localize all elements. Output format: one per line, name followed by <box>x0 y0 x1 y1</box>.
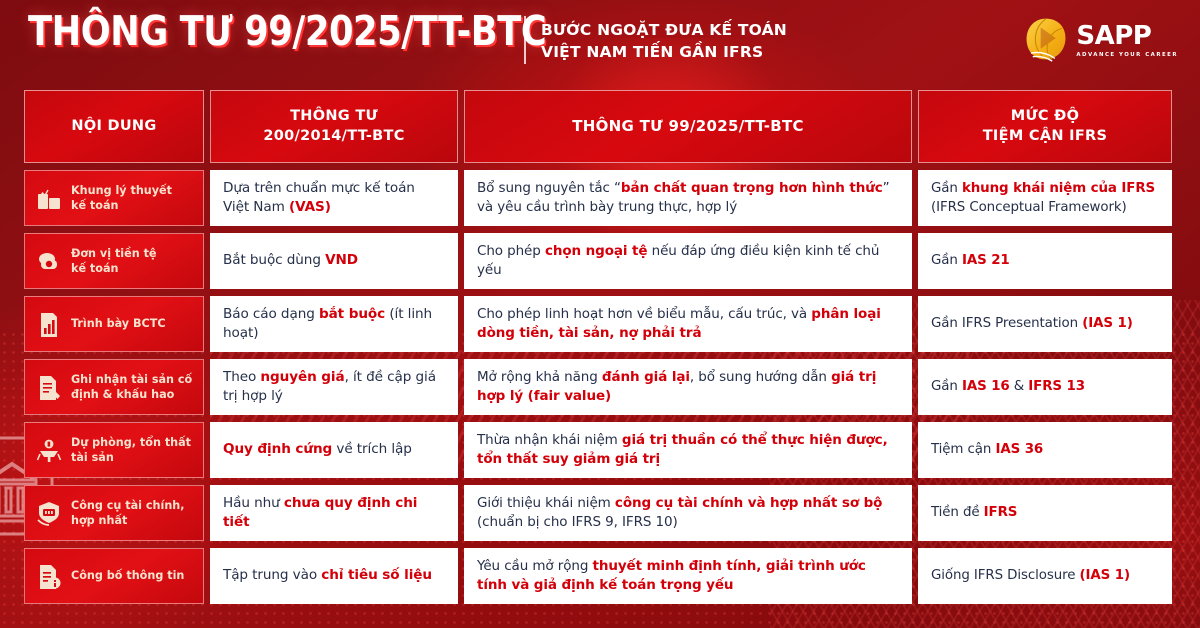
ifrs-level-cell: Gần IAS 21 <box>918 233 1172 289</box>
table-header-row: NỘI DUNGTHÔNG TƯ 200/2014/TT-BTCTHÔNG TƯ… <box>24 90 1176 163</box>
plain-text: Yêu cầu mở rộng <box>477 558 592 574</box>
cell-text: Bổ sung nguyên tắc “bản chất quan trọng … <box>477 179 899 217</box>
highlight-text: IAS 36 <box>995 442 1043 457</box>
table-row: Công cụ tài chính,hợp nhấtHầu như chưa q… <box>24 485 1176 541</box>
plain-text: Hầu như <box>223 495 284 511</box>
sapp-logo-tagline: ADVANCE YOUR CAREER <box>1076 52 1178 58</box>
plain-text: (chuẩn bị cho IFRS 9, IFRS 10) <box>477 514 678 530</box>
highlight-text: nguyên giá <box>260 369 344 385</box>
tt200-cell: Tập trung vào chỉ tiêu số liệu <box>210 548 458 604</box>
infographic-page: THÔNG TƯ 99/2025/TT-BTC BƯỚC NGOẶT ĐƯA K… <box>0 0 1200 628</box>
ifrs-level-cell: Tiệm cận IAS 36 <box>918 422 1172 478</box>
plain-text: Cho phép <box>477 243 545 259</box>
plain-text: Tiệm cận <box>931 442 995 457</box>
cell-text: Gần IAS 21 <box>931 251 1010 270</box>
highlight-text: (IAS 1) <box>1080 568 1131 583</box>
plain-text: Gần <box>931 379 962 394</box>
ifrs-level-cell: Gần khung khái niệm của IFRS (IFRS Conce… <box>918 170 1172 226</box>
table-row: Công bố thông tinTập trung vào chỉ tiêu … <box>24 548 1176 604</box>
cell-text: Tiền đề IFRS <box>931 503 1017 522</box>
page-title: THÔNG TƯ 99/2025/TT-BTC <box>28 11 546 52</box>
highlight-text: bắt buộc <box>319 306 385 322</box>
table-header-cell-3: THÔNG TƯ 99/2025/TT-BTC <box>464 90 912 163</box>
highlight-text: VND <box>325 252 358 268</box>
cell-text: Hầu như chưa quy định chi tiết <box>223 494 445 533</box>
topic-label-cell[interactable]: Dự phòng, tổn thấttài sản <box>24 422 204 478</box>
highlight-text: Quy định cứng <box>223 441 332 457</box>
cell-text: Gần IFRS Presentation (IAS 1) <box>931 314 1133 333</box>
plain-text: Gần <box>931 253 962 268</box>
topic-label-text: Công cụ tài chính,hợp nhất <box>71 498 185 528</box>
tt99-cell: Cho phép linh hoạt hơn về biểu mẫu, cấu … <box>464 296 912 352</box>
topic-label-text: Dự phòng, tổn thấttài sản <box>71 435 191 465</box>
highlight-text: IFRS 13 <box>1028 379 1085 394</box>
table-row: Ghi nhận tài sản cốđịnh & khấu haoTheo n… <box>24 359 1176 415</box>
cell-text: Báo cáo dạng bắt buộc (ít linh hoạt) <box>223 305 445 344</box>
cell-text: Gần khung khái niệm của IFRS (IFRS Conce… <box>931 179 1159 217</box>
highlight-text: bản chất quan trọng hơn hình thức <box>621 180 883 196</box>
plain-text: Bắt buộc dùng <box>223 252 325 268</box>
cell-text: Mở rộng khả năng đánh giá lại, bổ sung h… <box>477 368 899 406</box>
table-row: Khung lý thuyếtkế toánDựa trên chuẩn mực… <box>24 170 1176 226</box>
tt99-cell: Bổ sung nguyên tắc “bản chất quan trọng … <box>464 170 912 226</box>
sapp-logo-wordmark: SAPP <box>1076 24 1178 49</box>
topic-label-text: Đơn vị tiền tệkế toán <box>71 246 157 276</box>
plain-text: Gần IFRS Presentation <box>931 316 1082 331</box>
highlight-text: IAS 21 <box>962 253 1010 268</box>
table-row: Đơn vị tiền tệkế toánBắt buộc dùng VNDCh… <box>24 233 1176 289</box>
chart-building-icon <box>36 185 62 211</box>
plain-text: Mở rộng khả năng <box>477 369 602 385</box>
table-header-cell-4: MỨC ĐỘ TIỆM CẬN IFRS <box>918 90 1172 163</box>
highlight-text: công cụ tài chính và hợp nhất sơ bộ <box>615 495 882 511</box>
topic-label-cell[interactable]: Trình bày BCTC <box>24 296 204 352</box>
plain-text: (IFRS Conceptual Framework) <box>931 200 1127 215</box>
topic-label-cell[interactable]: Khung lý thuyếtkế toán <box>24 170 204 226</box>
sapp-logo[interactable]: SAPP ADVANCE YOUR CAREER <box>1023 16 1178 66</box>
table-header-label: NỘI DUNG <box>71 117 156 136</box>
cell-text: Quy định cứng về trích lập <box>223 440 412 459</box>
cell-text: Bắt buộc dùng VND <box>223 251 358 270</box>
topic-label-cell[interactable]: Ghi nhận tài sản cốđịnh & khấu hao <box>24 359 204 415</box>
ifrs-level-cell: Gần IFRS Presentation (IAS 1) <box>918 296 1172 352</box>
highlight-text: đánh giá lại <box>602 369 690 385</box>
highlight-text: IFRS <box>984 505 1018 520</box>
plain-text: Tập trung vào <box>223 567 321 583</box>
sapp-circle-logo-icon <box>1023 16 1069 67</box>
plain-text: & <box>1010 379 1029 394</box>
page-header: THÔNG TƯ 99/2025/TT-BTC BƯỚC NGOẶT ĐƯA K… <box>0 0 1200 88</box>
plain-text: Báo cáo dạng <box>223 306 319 322</box>
cell-text: Yêu cầu mở rộng thuyết minh định tính, g… <box>477 557 899 595</box>
plain-text: Tiền đề <box>931 505 984 520</box>
table-header-cell-1: NỘI DUNG <box>24 90 204 163</box>
tt200-cell: Quy định cứng về trích lập <box>210 422 458 478</box>
plain-text: Giới thiệu khái niệm <box>477 495 615 511</box>
plain-text: Thừa nhận khái niệm <box>477 432 622 448</box>
tt99-cell: Cho phép chọn ngoại tệ nếu đáp ứng điều … <box>464 233 912 289</box>
highlight-text: khung khái niệm của IFRS <box>962 181 1155 196</box>
tt200-cell: Dựa trên chuẩn mực kế toán Việt Nam (VAS… <box>210 170 458 226</box>
page-subtitle: BƯỚC NGOẶT ĐƯA KẾ TOÁN VIỆT NAM TIẾN GẦN… <box>541 19 787 63</box>
finance-hand-icon <box>36 500 62 526</box>
highlight-text: chỉ tiêu số liệu <box>321 567 432 583</box>
highlight-text: IAS 16 <box>962 379 1010 394</box>
highlight-text: (VAS) <box>289 199 331 215</box>
cell-text: Giới thiệu khái niệm công cụ tài chính v… <box>477 494 899 532</box>
cell-text: Cho phép chọn ngoại tệ nếu đáp ứng điều … <box>477 242 899 280</box>
plain-text: , bổ sung hướng dẫn <box>690 369 831 385</box>
plain-text: Giống IFRS Disclosure <box>931 568 1080 583</box>
plain-text: về trích lập <box>332 441 412 457</box>
cell-text: Dựa trên chuẩn mực kế toán Việt Nam (VAS… <box>223 179 445 218</box>
tt200-cell: Theo nguyên giá, ít đề cập giá trị hợp l… <box>210 359 458 415</box>
tt99-cell: Thừa nhận khái niệm giá trị thuần có thể… <box>464 422 912 478</box>
tt200-cell: Bắt buộc dùng VND <box>210 233 458 289</box>
plain-text: Theo <box>223 369 260 385</box>
tt99-cell: Mở rộng khả năng đánh giá lại, bổ sung h… <box>464 359 912 415</box>
shield-alert-icon <box>36 437 62 463</box>
topic-label-text: Công bố thông tin <box>71 568 184 583</box>
table-header-label: THÔNG TƯ 99/2025/TT-BTC <box>572 117 804 137</box>
cell-text: Cho phép linh hoạt hơn về biểu mẫu, cấu … <box>477 305 899 343</box>
document-pen-icon <box>36 374 62 400</box>
cell-text: Tiệm cận IAS 36 <box>931 440 1043 459</box>
table-header-label: MỨC ĐỘ TIỆM CẬN IFRS <box>983 107 1108 145</box>
highlight-text: chọn ngoại tệ <box>545 243 648 259</box>
title-divider <box>524 16 526 64</box>
report-chart-icon <box>36 311 62 337</box>
cell-text: Theo nguyên giá, ít đề cập giá trị hợp l… <box>223 368 445 407</box>
topic-label-text: Khung lý thuyếtkế toán <box>71 183 172 213</box>
plain-text: Gần <box>931 181 962 196</box>
topic-label-cell[interactable]: Công bố thông tin <box>24 548 204 604</box>
ifrs-level-cell: Giống IFRS Disclosure (IAS 1) <box>918 548 1172 604</box>
ifrs-level-cell: Gần IAS 16 & IFRS 13 <box>918 359 1172 415</box>
topic-label-cell[interactable]: Đơn vị tiền tệkế toán <box>24 233 204 289</box>
table-header-label: THÔNG TƯ 200/2014/TT-BTC <box>263 107 404 145</box>
table-row: Trình bày BCTCBáo cáo dạng bắt buộc (ít … <box>24 296 1176 352</box>
topic-label-text: Ghi nhận tài sản cốđịnh & khấu hao <box>71 372 192 402</box>
highlight-text: (IAS 1) <box>1082 316 1133 331</box>
plain-text: Bổ sung nguyên tắc “ <box>477 180 621 196</box>
cell-text: Thừa nhận khái niệm giá trị thuần có thể… <box>477 431 899 469</box>
tt99-cell: Yêu cầu mở rộng thuyết minh định tính, g… <box>464 548 912 604</box>
ifrs-level-cell: Tiền đề IFRS <box>918 485 1172 541</box>
topic-label-text: Trình bày BCTC <box>71 316 166 331</box>
topic-label-cell[interactable]: Công cụ tài chính,hợp nhất <box>24 485 204 541</box>
table-header-cell-2: THÔNG TƯ 200/2014/TT-BTC <box>210 90 458 163</box>
comparison-table: NỘI DUNGTHÔNG TƯ 200/2014/TT-BTCTHÔNG TƯ… <box>24 90 1176 611</box>
table-row: Dự phòng, tổn thấttài sảnQuy định cứng v… <box>24 422 1176 478</box>
money-coin-icon <box>36 248 62 274</box>
cell-text: Giống IFRS Disclosure (IAS 1) <box>931 566 1130 585</box>
tt200-cell: Báo cáo dạng bắt buộc (ít linh hoạt) <box>210 296 458 352</box>
cell-text: Tập trung vào chỉ tiêu số liệu <box>223 566 432 585</box>
plain-text: Cho phép linh hoạt hơn về biểu mẫu, cấu … <box>477 306 811 322</box>
cell-text: Gần IAS 16 & IFRS 13 <box>931 377 1085 396</box>
disclosure-info-icon <box>36 563 62 589</box>
tt200-cell: Hầu như chưa quy định chi tiết <box>210 485 458 541</box>
tt99-cell: Giới thiệu khái niệm công cụ tài chính v… <box>464 485 912 541</box>
